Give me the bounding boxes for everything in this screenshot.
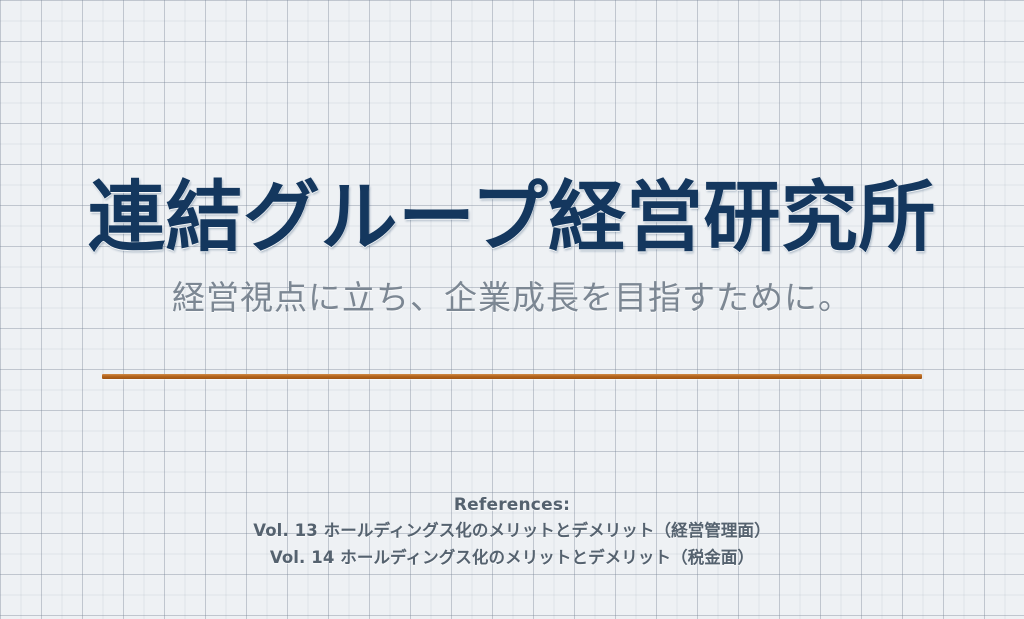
- horizontal-rule: [102, 374, 922, 379]
- references-heading: References:: [0, 492, 1024, 518]
- title-slide: 連結グループ経営研究所 経営視点に立ち、企業成長を目指すために。 Referen…: [0, 0, 1024, 619]
- divider-container: [0, 374, 1024, 379]
- reference-item-vol14: Vol. 14 ホールディングス化のメリットとデメリット（税金面）: [0, 545, 1024, 572]
- hero-block: 連結グループ経営研究所 経営視点に立ち、企業成長を目指すために。: [0, 180, 1024, 319]
- reference-item-vol13: Vol. 13 ホールディングス化のメリットとデメリット（経営管理面）: [0, 518, 1024, 545]
- page-subtitle: 経営視点に立ち、企業成長を目指すために。: [0, 277, 1024, 320]
- references-block: References: Vol. 13 ホールディングス化のメリットとデメリット…: [0, 492, 1024, 572]
- page-title: 連結グループ経営研究所: [0, 180, 1024, 259]
